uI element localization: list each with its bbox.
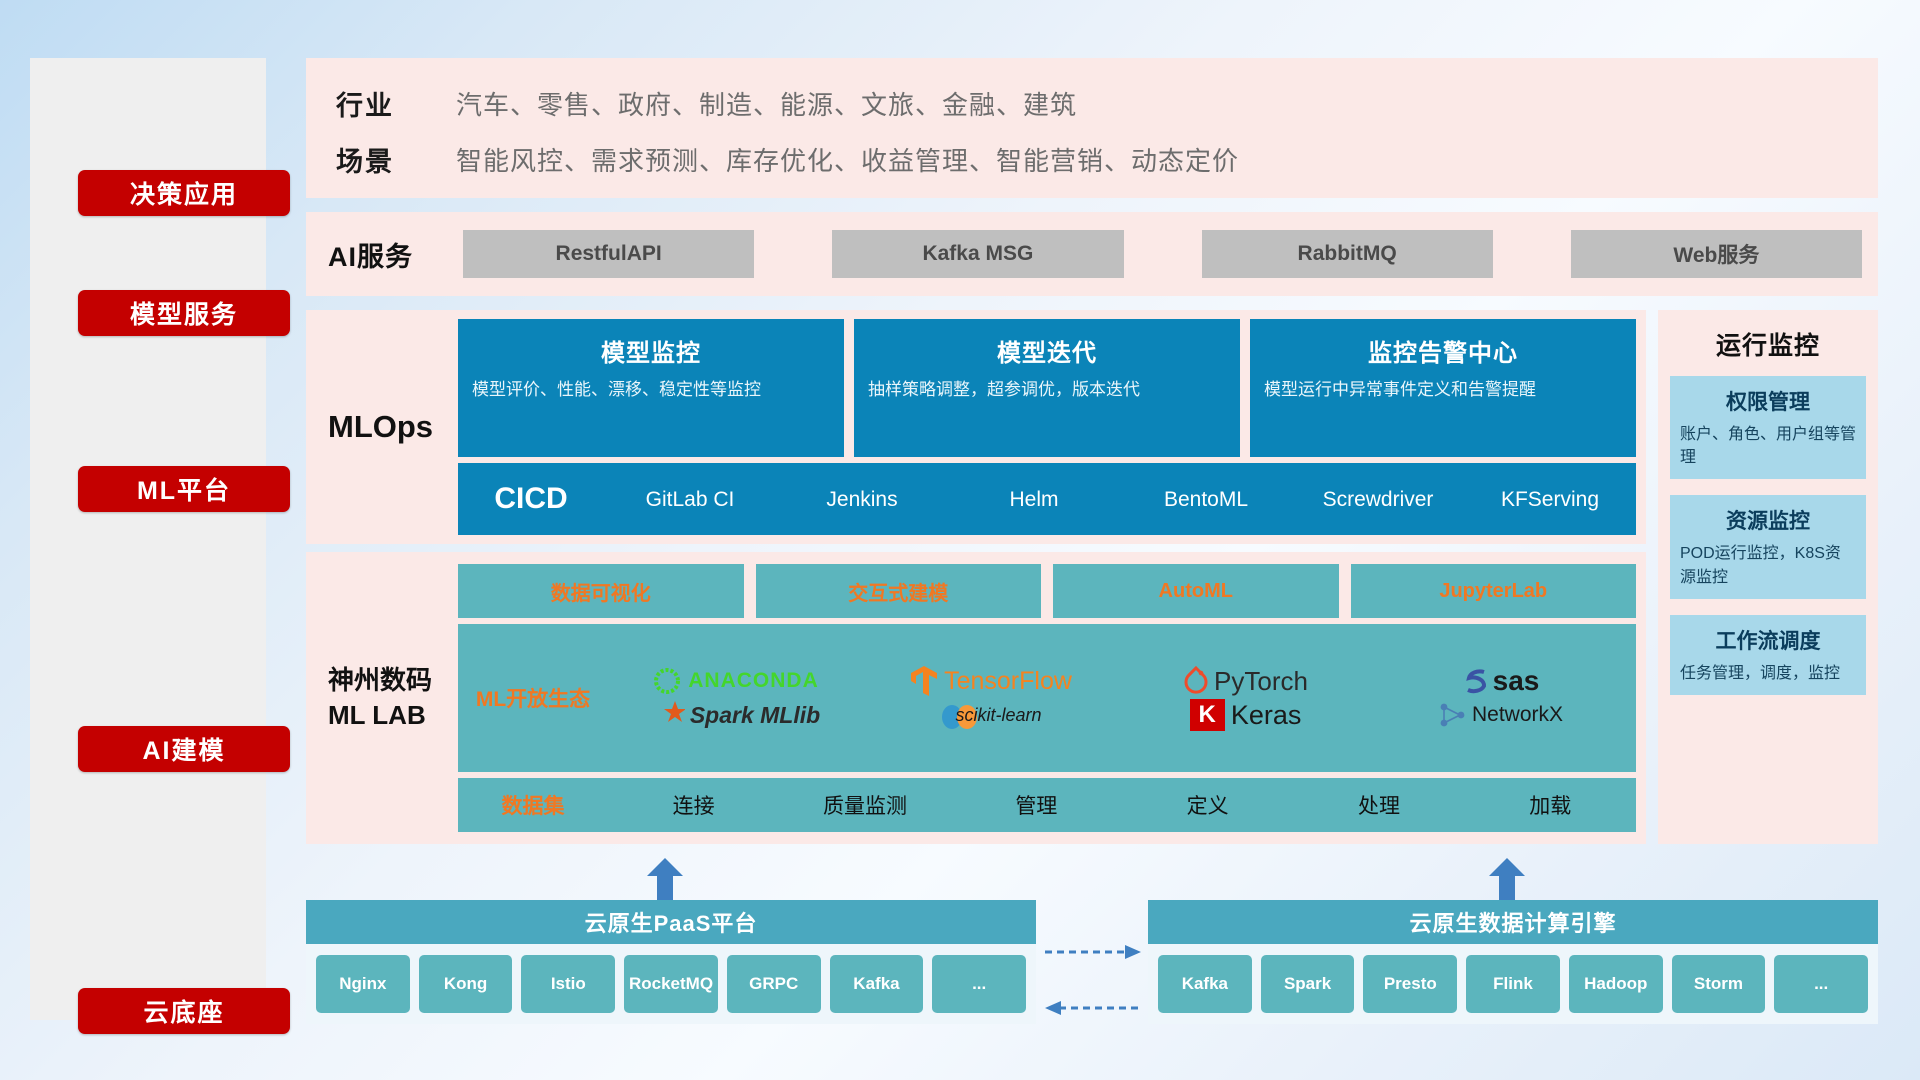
architecture-diagram: 决策应用 模型服务 ML平台 AI建模 云底座 行业 汽车、零售、政府、制造、能… — [0, 0, 1920, 1080]
rail-item-label: 决策应用 — [130, 175, 238, 211]
anaconda-logo-text: ANACONDA — [688, 669, 819, 693]
card-title: 工作流调度 — [1680, 625, 1856, 655]
tool-data-visualization[interactable]: 数据可视化 — [458, 564, 744, 618]
cloud-data-engine: 云原生数据计算引擎 Kafka Spark Presto Flink Hadoo… — [1148, 900, 1878, 1024]
dataset-item-quality-monitoring[interactable]: 质量监测 — [779, 790, 950, 820]
up-arrow-left-icon — [645, 858, 685, 902]
pytorch-logo-text: PyTorch — [1214, 666, 1308, 697]
service-restful-api[interactable]: RestfulAPI — [463, 230, 754, 278]
industry-scenario-band: 行业 汽车、零售、政府、制造、能源、文旅、金融、建筑 场景 智能风控、需求预测、… — [306, 58, 1878, 198]
service-label: Kafka MSG — [922, 242, 1033, 266]
networkx-logo: NetworkX — [1438, 701, 1563, 729]
rail-item-decision-app[interactable]: 决策应用 — [78, 170, 290, 216]
ml-lab-label: 神州数码 ML LAB — [328, 663, 458, 733]
cicd-row: CICD GitLab CI Jenkins Helm BentoML Scre… — [458, 463, 1636, 535]
card-desc: 模型运行中异常事件定义和告警提醒 — [1264, 378, 1622, 403]
ai-service-band: AI服务 RestfulAPI Kafka MSG RabbitMQ Web服务 — [306, 212, 1878, 296]
scikit-learn-logo-text: scikit-learn — [955, 705, 1041, 726]
ml-lab-tool-list: 数据可视化 交互式建模 AutoML JupyterLab — [458, 564, 1636, 618]
cloud-data-engine-chip-list: Kafka Spark Presto Flink Hadoop Storm ..… — [1148, 944, 1878, 1024]
chip-label: ... — [1814, 975, 1828, 994]
engine-chip-hadoop[interactable]: Hadoop — [1569, 955, 1663, 1013]
cloud-data-engine-title: 云原生数据计算引擎 — [1148, 900, 1878, 944]
networkx-logo-text: NetworkX — [1472, 703, 1563, 727]
ml-ecosystem-row: ML开放生态 ANACONDA TensorFlow PyTorch — [458, 624, 1636, 772]
cloud-paas-title: 云原生PaaS平台 — [306, 900, 1036, 944]
sas-logo-text: sas — [1493, 665, 1540, 697]
tool-label: 数据可视化 — [551, 577, 651, 606]
card-desc: 模型评价、性能、漂移、稳定性等监控 — [472, 378, 830, 403]
tool-label: 交互式建模 — [848, 577, 948, 606]
ml-ecosystem-caption: ML开放生态 — [458, 683, 608, 713]
card-title: 权限管理 — [1680, 386, 1856, 416]
cloud-chip-kafka[interactable]: Kafka — [830, 955, 924, 1013]
cicd-tool-jenkins[interactable]: Jenkins — [776, 489, 948, 510]
card-desc: 账户、角色、用户组等管理 — [1680, 423, 1856, 469]
chip-label: ... — [972, 975, 986, 994]
rail-item-cloud-base[interactable]: 云底座 — [78, 988, 290, 1034]
chip-label: GRPC — [749, 975, 798, 994]
tool-automl[interactable]: AutoML — [1053, 564, 1339, 618]
dataset-row: 数据集 连接 质量监测 管理 定义 处理 加载 — [458, 778, 1636, 832]
card-title: 模型迭代 — [868, 333, 1226, 368]
rail-item-ai-modeling[interactable]: AI建模 — [78, 726, 290, 772]
runtime-monitor-panel: 运行监控 权限管理 账户、角色、用户组等管理 资源监控 POD运行监控，K8S资… — [1658, 310, 1878, 844]
chip-label: Storm — [1694, 975, 1743, 994]
spark-mllib-logo: Spark MLlib — [651, 699, 820, 731]
tool-label: JupyterLab — [1439, 580, 1547, 603]
engine-chip-kafka[interactable]: Kafka — [1158, 955, 1252, 1013]
service-rabbitmq[interactable]: RabbitMQ — [1202, 230, 1493, 278]
dataset-item-definition[interactable]: 定义 — [1122, 790, 1293, 820]
mlops-band: MLOps 模型监控 模型评价、性能、漂移、稳定性等监控 模型迭代 抽样策略调整… — [306, 310, 1646, 544]
engine-chip-presto[interactable]: Presto — [1363, 955, 1457, 1013]
rail-item-label: 云底座 — [143, 993, 224, 1029]
tool-interactive-modeling[interactable]: 交互式建模 — [756, 564, 1042, 618]
cloud-paas-chip-list: Nginx Kong Istio RocketMQ GRPC Kafka ... — [306, 944, 1036, 1024]
monitor-card-workflow[interactable]: 工作流调度 任务管理，调度，监控 — [1670, 615, 1866, 695]
cicd-tool-list: GitLab CI Jenkins Helm BentoML Screwdriv… — [604, 489, 1636, 510]
engine-chip-more[interactable]: ... — [1774, 955, 1868, 1013]
cloud-chip-rocketmq[interactable]: RocketMQ — [624, 955, 718, 1013]
service-label: Web服务 — [1673, 239, 1759, 269]
ml-lab-content: 数据可视化 交互式建模 AutoML JupyterLab ML开放生态 ANA… — [458, 556, 1646, 840]
dataset-item-list: 连接 质量监测 管理 定义 处理 加载 — [608, 790, 1636, 820]
chip-label: RocketMQ — [629, 975, 713, 994]
ml-lab-label-line1: 神州数码 — [328, 663, 458, 698]
cloud-chip-istio[interactable]: Istio — [521, 955, 615, 1013]
cicd-tool-screwdriver[interactable]: Screwdriver — [1292, 489, 1464, 510]
industry-value: 汽车、零售、政府、制造、能源、文旅、金融、建筑 — [456, 85, 1077, 122]
tensorflow-logo: TensorFlow — [909, 664, 1072, 698]
card-title: 资源监控 — [1680, 505, 1856, 535]
mlops-card-alert-center[interactable]: 监控告警中心 模型运行中异常事件定义和告警提醒 — [1250, 319, 1636, 457]
chip-label: Kong — [444, 975, 487, 994]
mlops-label: MLOps — [328, 409, 458, 445]
engine-chip-flink[interactable]: Flink — [1466, 955, 1560, 1013]
cloud-chip-grpc[interactable]: GRPC — [727, 955, 821, 1013]
mlops-card-model-iteration[interactable]: 模型迭代 抽样策略调整，超参调优，版本迭代 — [854, 319, 1240, 457]
chip-label: Nginx — [339, 975, 386, 994]
spark-mllib-logo-text: Spark MLlib — [690, 702, 820, 729]
ml-lab-label-line2: ML LAB — [328, 698, 458, 733]
ai-service-label: AI服务 — [328, 235, 463, 274]
arrow-left-to-right-icon — [1045, 944, 1141, 946]
chip-label: Presto — [1384, 975, 1437, 994]
card-title: 监控告警中心 — [1264, 333, 1622, 368]
up-arrow-right-icon — [1487, 858, 1527, 902]
service-web[interactable]: Web服务 — [1571, 230, 1862, 278]
cloud-paas-platform: 云原生PaaS平台 Nginx Kong Istio RocketMQ GRPC… — [306, 900, 1036, 1024]
keras-logo-text: Keras — [1231, 700, 1302, 731]
keras-mark: K — [1190, 699, 1225, 731]
scenario-value: 智能风控、需求预测、库存优化、收益管理、智能营销、动态定价 — [456, 141, 1239, 178]
dataset-item-connect[interactable]: 连接 — [608, 790, 779, 820]
service-label: RabbitMQ — [1298, 242, 1397, 266]
cicd-tool-gitlab-ci[interactable]: GitLab CI — [604, 489, 776, 510]
mlops-card-model-monitoring[interactable]: 模型监控 模型评价、性能、漂移、稳定性等监控 — [458, 319, 844, 457]
scenario-label: 场景 — [336, 140, 456, 179]
card-desc: 任务管理，调度，监控 — [1680, 662, 1856, 685]
ml-ecosystem-logo-grid: ANACONDA TensorFlow PyTorch sas — [608, 664, 1636, 732]
tensorflow-logo-text: TensorFlow — [944, 667, 1072, 696]
rail-item-model-service[interactable]: 模型服务 — [78, 290, 290, 336]
ai-service-list: RestfulAPI Kafka MSG RabbitMQ Web服务 — [463, 230, 1878, 278]
mlops-content: 模型监控 模型评价、性能、漂移、稳定性等监控 模型迭代 抽样策略调整，超参调优，… — [458, 309, 1646, 545]
dataset-item-management[interactable]: 管理 — [951, 790, 1122, 820]
chip-label: Hadoop — [1584, 975, 1647, 994]
cicd-tool-helm[interactable]: Helm — [948, 489, 1120, 510]
chip-label: Flink — [1493, 975, 1533, 994]
rail-item-label: 模型服务 — [130, 295, 238, 331]
cicd-tool-bentoml[interactable]: BentoML — [1120, 489, 1292, 510]
industry-label: 行业 — [336, 84, 456, 123]
tool-label: AutoML — [1159, 580, 1233, 603]
monitor-card-resource[interactable]: 资源监控 POD运行监控，K8S资源监控 — [1670, 495, 1866, 598]
card-desc: 抽样策略调整，超参调优，版本迭代 — [868, 378, 1226, 403]
cloud-chip-kong[interactable]: Kong — [419, 955, 513, 1013]
scenario-row: 场景 智能风控、需求预测、库存优化、收益管理、智能营销、动态定价 — [336, 140, 1239, 179]
mlops-card-list: 模型监控 模型评价、性能、漂移、稳定性等监控 模型迭代 抽样策略调整，超参调优，… — [458, 319, 1636, 457]
service-label: RestfulAPI — [556, 242, 662, 266]
card-title: 模型监控 — [472, 333, 830, 368]
anaconda-logo: ANACONDA — [652, 666, 819, 696]
layer-rail: 决策应用 模型服务 ML平台 AI建模 云底座 — [30, 58, 266, 1020]
cicd-title: CICD — [458, 482, 604, 516]
cloud-chip-nginx[interactable]: Nginx — [316, 955, 410, 1013]
sas-logo: sas — [1462, 665, 1540, 697]
rail-item-label: ML平台 — [137, 471, 231, 507]
keras-logo: K Keras — [1190, 699, 1302, 731]
industry-row: 行业 汽车、零售、政府、制造、能源、文旅、金融、建筑 — [336, 84, 1077, 123]
dataset-caption: 数据集 — [458, 790, 608, 820]
chip-label: Kafka — [1182, 975, 1228, 994]
rail-item-label: AI建模 — [142, 731, 225, 767]
chip-label: Kafka — [853, 975, 899, 994]
card-desc: POD运行监控，K8S资源监控 — [1680, 542, 1856, 588]
scikit-learn-logo: scikit-learn — [939, 699, 1041, 731]
rail-item-ml-platform[interactable]: ML平台 — [78, 466, 290, 512]
dataset-item-processing[interactable]: 处理 — [1293, 790, 1464, 820]
pytorch-logo: PyTorch — [1183, 666, 1308, 697]
cloud-chip-more[interactable]: ... — [932, 955, 1026, 1013]
tool-jupyterlab[interactable]: JupyterLab — [1351, 564, 1637, 618]
monitor-card-permission[interactable]: 权限管理 账户、角色、用户组等管理 — [1670, 376, 1866, 479]
dataset-item-loading[interactable]: 加载 — [1465, 790, 1636, 820]
engine-chip-storm[interactable]: Storm — [1672, 955, 1766, 1013]
ml-lab-band: 神州数码 ML LAB 数据可视化 交互式建模 AutoML JupyterLa… — [306, 552, 1646, 844]
engine-chip-spark[interactable]: Spark — [1261, 955, 1355, 1013]
runtime-monitor-title: 运行监控 — [1658, 326, 1878, 362]
chip-label: Istio — [551, 975, 586, 994]
service-kafka-msg[interactable]: Kafka MSG — [832, 230, 1123, 278]
chip-label: Spark — [1284, 975, 1331, 994]
cicd-tool-kfserving[interactable]: KFServing — [1464, 489, 1636, 510]
arrow-right-to-left-icon — [1045, 1000, 1141, 1002]
